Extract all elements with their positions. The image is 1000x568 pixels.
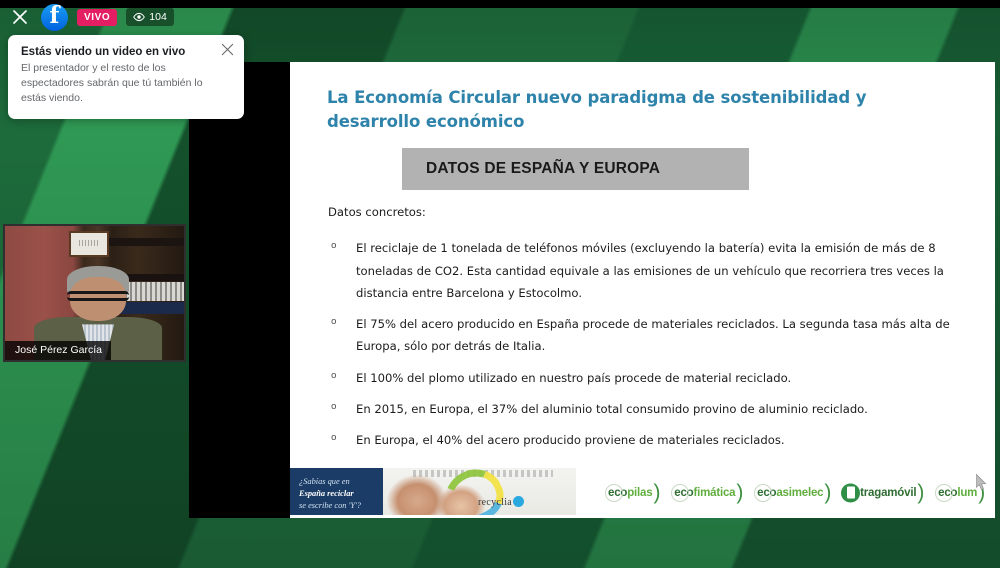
paren-icon: ) (978, 485, 985, 502)
bullet-marker-icon: o (328, 398, 356, 420)
notice-body: El presentador y el resto de los especta… (21, 61, 211, 106)
viewer-count-value: 104 (149, 11, 167, 23)
paren-icon: ) (917, 485, 924, 502)
ring-icon (671, 484, 689, 502)
bullet-marker-icon: o (328, 237, 356, 304)
logo-ecolum-suffix: lum (957, 487, 977, 499)
close-icon (221, 43, 234, 56)
slide-body: Datos concretos: o El reciclaje de 1 ton… (328, 204, 973, 460)
wall-picture-frame (69, 231, 108, 256)
bullet-text: En 2015, en Europa, el 37% del aluminio … (356, 398, 973, 420)
logo-tragamovil: tragamóvil) (845, 485, 924, 502)
viewer-count: 104 (126, 8, 174, 26)
webcam-pip[interactable]: José Pérez García (3, 224, 186, 362)
slide-bullet: o El reciclaje de 1 tonelada de teléfono… (328, 237, 973, 304)
logo-ecoasimelec: ecoasimelec) (757, 485, 831, 502)
notice-close-button[interactable] (221, 43, 236, 58)
live-viewing-notice: Estás viendo un video en vivo El present… (8, 35, 244, 119)
logo-ecofimatica: ecofimática) (674, 485, 743, 502)
campaign-slogan-text: ¿Sabías que en España reciclar se escrib… (299, 476, 379, 512)
logo-ecopilas: ecopilas) (608, 485, 660, 502)
campaign-banner-image: ¿Sabías que en España reciclar se escrib… (290, 468, 576, 515)
slide-section-banner-label: DATOS DE ESPAÑA Y EUROPA (402, 160, 660, 178)
slide-intro-line: Datos concretos: (328, 204, 973, 221)
paren-icon: ) (736, 485, 743, 502)
campaign-slogan-line3: se escribe con 'Y'? (299, 501, 361, 510)
paren-icon: ) (824, 485, 831, 502)
bullet-text: El reciclaje de 1 tonelada de teléfonos … (356, 237, 973, 304)
logo-ecofimatica-suffix: fimática (693, 487, 735, 499)
phone-ring-icon (841, 483, 860, 502)
slide-bullet: o En 2015, en Europa, el 37% del alumini… (328, 398, 973, 420)
video-letterbox[interactable]: La Economía Circular nuevo paradigma de … (189, 62, 995, 518)
live-overlay-controls: VIVO 104 (8, 3, 174, 31)
ring-icon (605, 484, 623, 502)
campaign-slogan-line1: ¿Sabías que en (299, 477, 350, 486)
ring-icon (754, 484, 772, 502)
live-badge: VIVO (77, 9, 117, 26)
bullet-text: El 100% del plomo utilizado en nuestro p… (356, 367, 973, 389)
slide-title: La Economía Circular nuevo paradigma de … (327, 86, 957, 134)
slide-section-banner: DATOS DE ESPAÑA Y EUROPA (402, 148, 749, 190)
ring-icon (935, 484, 953, 502)
webcam-video-frame (5, 226, 184, 360)
sponsor-logos: ecopilas) ecofimática) ecoasimelec) trag… (545, 472, 995, 514)
bookshelf-shelf (109, 238, 184, 246)
logo-ecoasimelec-suffix: asimelec (776, 487, 823, 499)
slide-bullet: o El 100% del plomo utilizado en nuestro… (328, 367, 973, 389)
eye-icon (133, 12, 145, 22)
recyclia-logo-label: recyclia (478, 497, 512, 508)
paren-icon: ) (653, 485, 660, 502)
recyclia-logo: recyclia (478, 496, 524, 508)
bullet-marker-icon: o (328, 429, 356, 451)
facebook-logo-icon[interactable] (41, 4, 68, 31)
bullet-marker-icon: o (328, 367, 356, 389)
logo-ecolum: ecolum) (938, 485, 985, 502)
presentation-slide: La Economía Circular nuevo paradigma de … (290, 62, 995, 518)
bullet-text: En Europa, el 40% del acero producido pr… (356, 429, 973, 451)
campaign-slogan-panel: ¿Sabías que en España reciclar se escrib… (290, 468, 383, 515)
close-icon (12, 9, 28, 25)
bullet-marker-icon: o (328, 313, 356, 358)
bullet-text: El 75% del acero producido en España pro… (356, 313, 973, 358)
logo-ecopilas-suffix: pilas (627, 487, 652, 499)
participant-name-label: José Pérez García (5, 341, 111, 360)
campaign-slogan-line2: España reciclar (299, 489, 354, 498)
recyclia-dot-icon (513, 496, 524, 507)
facebook-live-player: La Economía Circular nuevo paradigma de … (0, 0, 1000, 568)
notice-title: Estás viendo un video en vivo (21, 46, 231, 58)
glasses-icon (67, 291, 129, 301)
slide-bullet: o En Europa, el 40% del acero producido … (328, 429, 973, 451)
slide-sponsor-strip: ¿Sabías que en España reciclar se escrib… (290, 468, 995, 518)
slide-bullet: o El 75% del acero producido en España p… (328, 313, 973, 358)
close-button[interactable] (8, 5, 32, 29)
